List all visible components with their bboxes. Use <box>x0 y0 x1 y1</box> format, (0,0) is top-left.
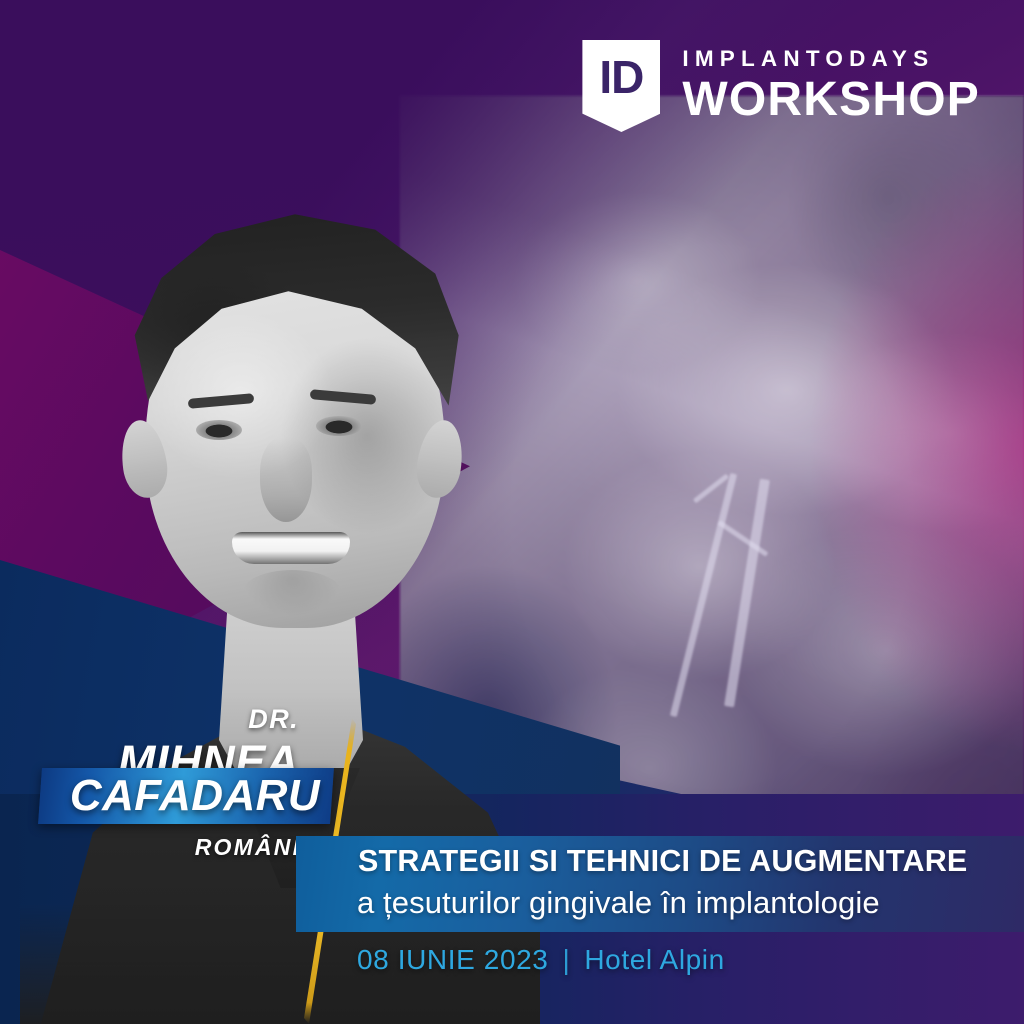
brand-name-bottom: WORKSHOP <box>682 76 980 124</box>
session-title-main: STRATEGII SI TEHNICI DE AUGMENTARE <box>358 846 967 877</box>
portrait-eye-right <box>316 416 362 436</box>
portrait-smile <box>232 532 350 564</box>
brand-name-top: IMPLANTODAYS <box>682 48 934 71</box>
speaker-last-name: CAFADARU <box>40 768 336 824</box>
dateline-separator: | <box>562 944 570 976</box>
event-dateline: 08 IUNIE 2023 | Hotel Alpin <box>357 944 725 976</box>
session-title-sub: a țesuturilor gingivale în implantologie <box>357 885 880 921</box>
event-venue: Hotel Alpin <box>584 944 724 976</box>
brand-logo[interactable]: ID IMPLANTODAYS WORKSHOP <box>582 40 980 132</box>
id-shield-icon: ID <box>582 40 660 132</box>
speaker-country: ROMÂNIA <box>0 834 320 861</box>
workshop-promo-poster: ID IMPLANTODAYS WORKSHOP DR. MIHNEA <box>0 0 1024 1024</box>
event-date: 08 IUNIE 2023 <box>357 944 548 976</box>
brand-wordmark: IMPLANTODAYS WORKSHOP <box>682 48 980 125</box>
logo-mark-letters: ID <box>582 40 660 114</box>
portrait-nose <box>260 438 312 522</box>
speaker-honorific: DR. <box>0 706 345 733</box>
portrait-eye-left <box>196 420 242 440</box>
portrait-chin <box>242 570 342 616</box>
